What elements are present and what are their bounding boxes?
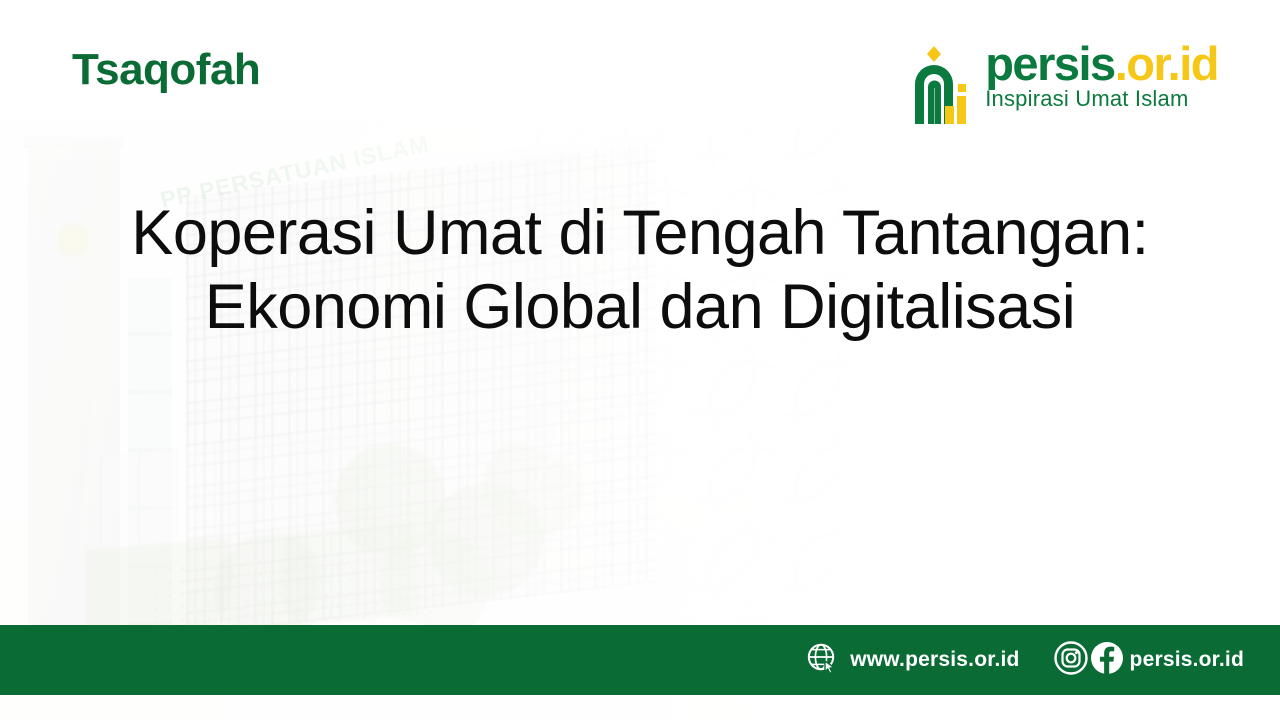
brand-tagline: Inspirasi Umat Islam xyxy=(985,88,1188,110)
brand-wordmark-suffix: .or.id xyxy=(1115,37,1218,90)
footer-social-handle: persis.or.id xyxy=(1130,648,1244,672)
background-tower-cap xyxy=(24,136,124,148)
persis-dome-logo-icon xyxy=(911,44,975,133)
slide-canvas: PP PERSATUAN ISLAM Tsaqofah persis. xyxy=(0,0,1280,720)
brand-wordmark: persis.or.id xyxy=(985,42,1218,85)
slide-kicker: Tsaqofah xyxy=(72,48,260,92)
footer-website-group[interactable]: www.persis.or.id xyxy=(806,642,1019,679)
brand-text-block: persis.or.id Inspirasi Umat Islam xyxy=(985,42,1218,110)
instagram-icon[interactable] xyxy=(1054,641,1088,680)
footer-bar: www.persis.or.id xyxy=(0,625,1280,695)
background-window-band xyxy=(100,424,400,546)
background-tower xyxy=(28,140,120,640)
footer-social-group[interactable]: persis.or.id xyxy=(1054,641,1244,680)
social-icon-set xyxy=(1054,641,1124,680)
background-tower-emblem-icon xyxy=(55,222,91,258)
brand-wordmark-primary: persis xyxy=(985,37,1114,90)
facebook-icon[interactable] xyxy=(1090,641,1124,680)
globe-cursor-icon xyxy=(806,642,838,679)
brand-logo: persis.or.id Inspirasi Umat Islam xyxy=(911,42,1218,133)
background-facade-edge xyxy=(184,131,664,202)
background-foliage xyxy=(300,430,600,630)
footer-website-text: www.persis.or.id xyxy=(850,648,1019,672)
slide-title: Koperasi Umat di Tengah Tantangan: Ekono… xyxy=(130,196,1150,345)
